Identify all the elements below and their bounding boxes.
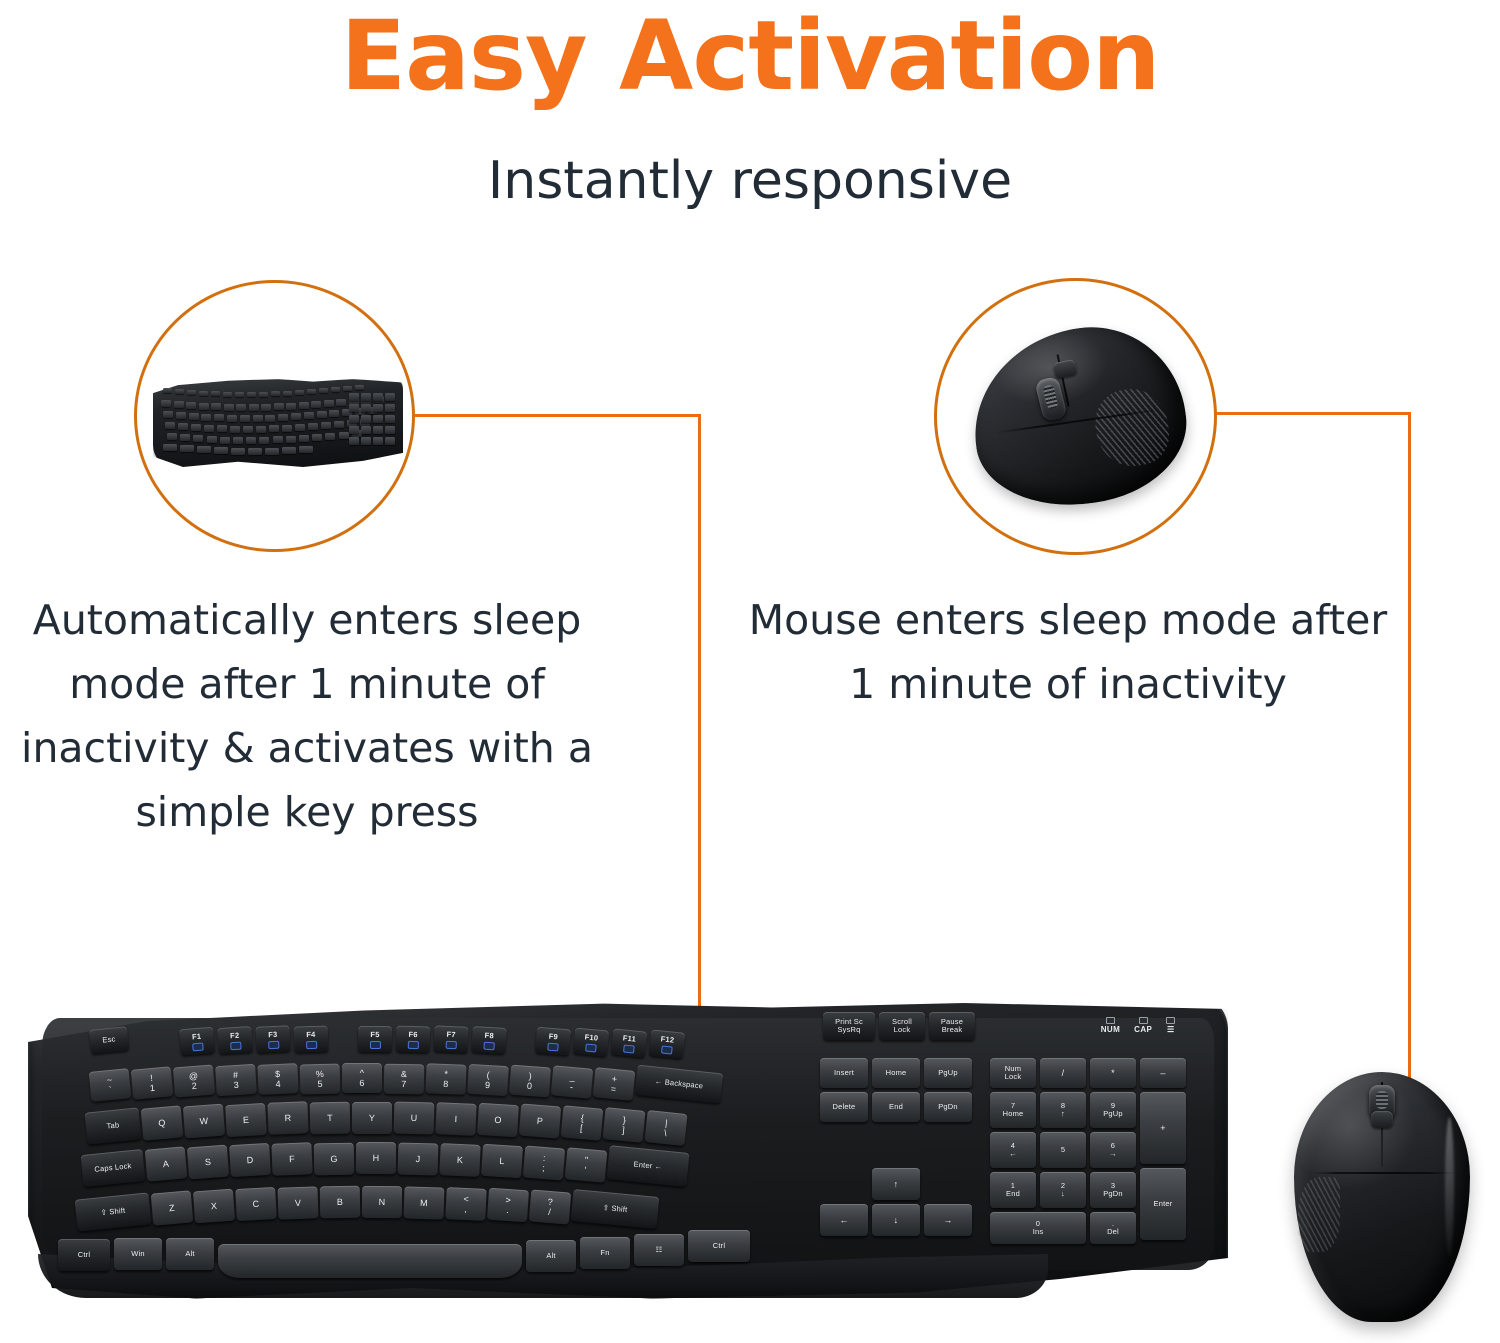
mini-keycap (224, 404, 234, 411)
mouse-dpi-button (1371, 1111, 1393, 1128)
indicator-label: NUM (1101, 1025, 1120, 1034)
key-key[interactable]: – (1140, 1058, 1186, 1088)
mini-keycap (223, 392, 232, 397)
mini-keycap (180, 445, 194, 452)
key-fn[interactable]: Fn (580, 1237, 630, 1269)
key-ctrl[interactable]: Ctrl (688, 1230, 750, 1262)
mini-keycap (385, 415, 395, 423)
mini-keycap (273, 436, 283, 443)
mini-keycap (165, 422, 175, 429)
mini-keycap (193, 435, 203, 442)
key-3[interactable]: #3 (215, 1064, 257, 1096)
key-pgdn[interactable]: PgDn (924, 1092, 972, 1122)
mini-keycap (282, 447, 296, 454)
mini-keycap (161, 400, 171, 407)
mini-keycap (186, 402, 196, 409)
key-ctrl[interactable]: Ctrl (58, 1239, 110, 1271)
indicator-num: NUM (1101, 1017, 1120, 1034)
key-del[interactable]: . Del (1090, 1212, 1136, 1244)
key-alt[interactable]: Alt (526, 1240, 576, 1272)
key-space[interactable] (218, 1244, 522, 1278)
key-2[interactable]: @2 (173, 1065, 215, 1098)
key-8[interactable]: 8 ↑ (1040, 1092, 1086, 1128)
mini-keycap (331, 387, 340, 392)
key-2[interactable]: 2 ↓ (1040, 1172, 1086, 1208)
mini-keycap (339, 432, 349, 439)
mini-keycap (240, 415, 250, 422)
mini-keycap (178, 423, 188, 430)
key-q[interactable]: Q (141, 1105, 184, 1140)
key-f2[interactable]: F2 (217, 1026, 253, 1054)
mini-keycap (197, 446, 211, 453)
key-d[interactable]: D (229, 1143, 271, 1177)
indicator-label: ☰ (1167, 1025, 1175, 1034)
mini-keycap (217, 425, 227, 432)
mini-keycap (248, 448, 262, 455)
mouse-seam (1305, 1172, 1460, 1174)
key-f10[interactable]: F10 (573, 1027, 609, 1056)
key-g[interactable]: G (314, 1142, 355, 1175)
key-l[interactable]: L (481, 1144, 523, 1178)
key-z[interactable]: Z (151, 1190, 194, 1225)
key-i[interactable]: I (435, 1102, 476, 1136)
mouse-callout-circle (934, 278, 1217, 555)
key-7[interactable]: &7 (384, 1063, 425, 1094)
led-glyph-icon (1106, 1017, 1115, 1024)
key-enter[interactable]: Enter (1140, 1168, 1186, 1240)
key-key[interactable]: {[ (561, 1105, 604, 1140)
key-5[interactable]: 5 (1040, 1132, 1086, 1168)
key-f7[interactable]: F7 (433, 1026, 468, 1053)
key-key[interactable]: ↑ (872, 1168, 920, 1200)
key-key[interactable]: ↓ (872, 1204, 920, 1236)
key-y[interactable]: Y (352, 1102, 392, 1134)
mini-keycap (385, 393, 395, 401)
key-insert[interactable]: Insert (820, 1058, 868, 1088)
mini-keycap (324, 400, 334, 407)
key-x[interactable]: X (193, 1188, 235, 1223)
key-9-pgup[interactable]: 9 PgUp (1090, 1092, 1136, 1128)
key-home[interactable]: Home (872, 1058, 920, 1088)
key-tab[interactable]: Tab (85, 1107, 142, 1144)
keyboard-connector-horizontal (413, 414, 701, 417)
mini-keycap (311, 401, 321, 408)
mini-keycap (207, 436, 217, 443)
mouse-caption: Mouse enters sleep mode after 1 minute o… (744, 588, 1392, 716)
key-win[interactable]: Win (114, 1238, 162, 1270)
key-1-end[interactable]: 1 End (990, 1172, 1036, 1208)
key-num-lock[interactable]: Num Lock (990, 1058, 1036, 1088)
mini-keycap (295, 390, 304, 395)
key-s[interactable]: S (187, 1145, 229, 1180)
mini-keycap (325, 433, 335, 440)
mouse-connector-vertical (1408, 412, 1411, 1092)
key-key[interactable]: "' (565, 1147, 608, 1183)
mini-keycap (175, 389, 184, 394)
key-f5[interactable]: F5 (358, 1026, 392, 1052)
mini-keycap (233, 437, 243, 444)
key-4[interactable]: 4 ← (990, 1132, 1036, 1168)
mini-keycap (373, 404, 383, 412)
key-v[interactable]: V (277, 1186, 318, 1219)
mini-keycap (334, 421, 344, 428)
mouse-connector-horizontal (1215, 412, 1411, 415)
mini-keycap (261, 404, 271, 411)
keyboard-connector-vertical (698, 414, 701, 1022)
key-key[interactable]: += (593, 1067, 636, 1101)
keyboard-indicator-panel: NUMCAP☰ (1074, 1008, 1202, 1034)
mini-keycap (361, 393, 371, 401)
key-9[interactable]: (9 (467, 1064, 509, 1096)
mini-keycap (299, 446, 313, 453)
key-key[interactable]: ~` (89, 1068, 132, 1102)
key-k[interactable]: K (439, 1143, 480, 1177)
key-key[interactable]: :; (523, 1145, 565, 1180)
mini-keycap (201, 414, 211, 421)
mini-keycap (243, 426, 253, 433)
mini-keycap (163, 411, 173, 418)
key-key[interactable]: <, (445, 1187, 487, 1221)
key-delete[interactable]: Delete (820, 1092, 868, 1122)
mini-keycap (187, 390, 196, 395)
key-key[interactable]: * (1090, 1058, 1136, 1088)
mouse-thumbnail-image (973, 329, 1185, 504)
key-o[interactable]: O (477, 1103, 519, 1137)
key-0[interactable]: )0 (509, 1065, 551, 1098)
indicator-cap: CAP (1134, 1017, 1152, 1034)
key-f1[interactable]: F1 (179, 1026, 215, 1055)
mini-keycap (299, 402, 309, 409)
mini-keycap (274, 403, 284, 410)
key-t[interactable]: T (310, 1101, 351, 1134)
key-scroll-lock[interactable]: Scroll Lock (879, 1012, 925, 1040)
mini-keycap (220, 437, 230, 444)
mini-keycap (163, 388, 172, 393)
mini-keycap (373, 437, 383, 445)
mini-keycap (307, 389, 316, 394)
key-5[interactable]: %5 (300, 1063, 341, 1094)
keyboard-product-image: NUMCAP☰ EscF1F2F3F4F5F6F7F8F9F10F11F12Pr… (28, 1000, 1228, 1300)
key-p[interactable]: P (519, 1104, 561, 1139)
key-f11[interactable]: F11 (611, 1028, 647, 1057)
mini-keycap (385, 426, 395, 434)
mini-keycap (246, 437, 256, 444)
mini-keycap (355, 385, 364, 390)
key-key[interactable]: |\ (644, 1110, 687, 1146)
mini-keycap (304, 412, 314, 419)
key-f[interactable]: F (271, 1143, 312, 1177)
mini-keycap (199, 403, 209, 410)
mini-keycap (295, 424, 305, 431)
page-subtitle: Instantly responsive (0, 150, 1500, 212)
keyboard-thumbnail (137, 283, 412, 549)
key-key[interactable]: ← (820, 1204, 868, 1236)
mini-keycap (230, 426, 240, 433)
mini-keycap (385, 404, 395, 412)
mini-keycap (265, 448, 279, 455)
mini-keycap (167, 433, 177, 440)
mini-keycap (199, 391, 208, 396)
mini-keycap (349, 404, 359, 412)
mini-keycap (278, 414, 288, 421)
mini-keycap (204, 425, 214, 432)
key-alt[interactable]: Alt (166, 1238, 214, 1270)
mouse-thumbnail (937, 281, 1214, 552)
mini-keycap (256, 426, 266, 433)
key-f3[interactable]: F3 (255, 1026, 290, 1054)
mini-keycap (349, 393, 359, 401)
keyboard-caption: Automatically enters sleep mode after 1 … (2, 588, 612, 844)
mini-keycap (286, 436, 296, 443)
key-key[interactable]: + (1140, 1092, 1186, 1164)
mini-keycap (211, 403, 221, 410)
key-0-ins[interactable]: 0 Ins (990, 1212, 1086, 1244)
key-h[interactable]: H (356, 1142, 396, 1174)
mini-keycap (211, 391, 220, 396)
mini-keycap (191, 424, 201, 431)
mini-keycap (336, 399, 346, 406)
key-e[interactable]: E (225, 1102, 267, 1136)
mini-keycap (227, 415, 237, 422)
mini-keycap (321, 422, 331, 429)
mini-keycap (214, 447, 228, 454)
mini-keycap (385, 437, 395, 445)
key-b[interactable]: B (320, 1186, 360, 1219)
keyboard-callout-circle (134, 280, 415, 552)
key-key[interactable]: >. (487, 1188, 529, 1223)
led-glyph-icon (1166, 1017, 1175, 1024)
mini-keycap (317, 411, 327, 418)
mini-keycap (312, 434, 322, 441)
mini-keycap (180, 434, 190, 441)
mini-keycap (329, 410, 339, 417)
mouse-side-grip (1298, 1177, 1340, 1252)
mini-keycap (253, 415, 263, 422)
led-glyph-icon (1139, 1017, 1148, 1024)
mini-keyboard-keys (153, 379, 403, 467)
mini-keycap (319, 388, 328, 393)
mini-keycap (373, 415, 383, 423)
key-a[interactable]: A (145, 1146, 188, 1181)
mini-keycap (361, 404, 371, 412)
mini-keycap (291, 413, 301, 420)
indicator-label: CAP (1134, 1025, 1152, 1034)
key-c[interactable]: C (235, 1187, 277, 1221)
mini-keycap (174, 401, 184, 408)
mini-keycap (373, 393, 383, 401)
mini-keycap (249, 404, 259, 411)
keyboard-thumbnail-image (153, 379, 403, 467)
mini-keycap (299, 435, 309, 442)
mini-keycap (259, 392, 268, 397)
key-8[interactable]: *8 (425, 1063, 466, 1095)
mini-keycap (176, 412, 186, 419)
mini-keycap (163, 444, 177, 451)
key-f9[interactable]: F9 (535, 1027, 571, 1056)
indicator-☰: ☰ (1166, 1017, 1175, 1034)
key-w[interactable]: W (183, 1104, 225, 1139)
key-1[interactable]: !1 (131, 1066, 174, 1100)
key-u[interactable]: U (394, 1101, 435, 1134)
mini-keycap (236, 404, 246, 411)
key-6[interactable]: 6 → (1090, 1132, 1136, 1168)
key-end[interactable]: End (872, 1092, 920, 1122)
key-key[interactable]: / (1040, 1058, 1086, 1088)
mini-keycap (361, 415, 371, 423)
page-title: Easy Activation (0, 4, 1500, 108)
mini-keycap (283, 391, 292, 396)
mini-keycap (308, 423, 318, 430)
key-key[interactable]: → (924, 1204, 972, 1236)
key-f4[interactable]: F4 (294, 1026, 329, 1053)
mini-keycap (265, 415, 275, 422)
mini-keycap (282, 425, 292, 432)
key-4[interactable]: $4 (257, 1063, 298, 1095)
mini-keycap (269, 425, 279, 432)
key-key[interactable]: ?/ (529, 1189, 571, 1224)
mini-keycap (247, 392, 256, 397)
key-f6[interactable]: F6 (396, 1026, 431, 1053)
mini-keycap (349, 426, 359, 434)
key-pgup[interactable]: PgUp (924, 1058, 972, 1088)
mini-keycap (189, 413, 199, 420)
mini-keycap (286, 403, 296, 410)
key-f8[interactable]: F8 (471, 1026, 506, 1054)
key-print-sc-sysrq[interactable]: Print Sc SysRq (823, 1012, 875, 1040)
key-key[interactable]: _- (551, 1066, 593, 1099)
mini-keycap (271, 391, 280, 396)
key-pause-break[interactable]: Pause Break (929, 1012, 975, 1040)
mini-keycap (343, 386, 352, 391)
key-key[interactable]: ☷ (634, 1234, 684, 1266)
mini-keycap (361, 437, 371, 445)
infographic-canvas: Easy Activation Instantly responsive (0, 0, 1500, 1343)
mini-keycap (235, 392, 244, 397)
mouse-product-image (1294, 1072, 1470, 1322)
key-f12[interactable]: F12 (649, 1029, 686, 1058)
mini-keycap (349, 437, 359, 445)
mini-keycap (214, 414, 224, 421)
key-n[interactable]: N (362, 1186, 402, 1218)
mini-keycap (349, 415, 359, 423)
key-j[interactable]: J (398, 1142, 439, 1175)
mini-keycap (373, 426, 383, 434)
key-7-home[interactable]: 7 Home (990, 1092, 1036, 1128)
key-6[interactable]: ^6 (342, 1063, 382, 1093)
mini-keycap (231, 448, 245, 455)
mini-keycap (361, 426, 371, 434)
key-3-pgdn[interactable]: 3 PgDn (1090, 1172, 1136, 1208)
key-m[interactable]: M (404, 1186, 445, 1219)
key-caps-lock[interactable]: Caps Lock (81, 1149, 146, 1187)
key-r[interactable]: R (267, 1102, 308, 1136)
key-key[interactable]: }] (603, 1107, 646, 1143)
key-esc[interactable]: Esc (89, 1026, 129, 1054)
mini-keycap (259, 437, 269, 444)
